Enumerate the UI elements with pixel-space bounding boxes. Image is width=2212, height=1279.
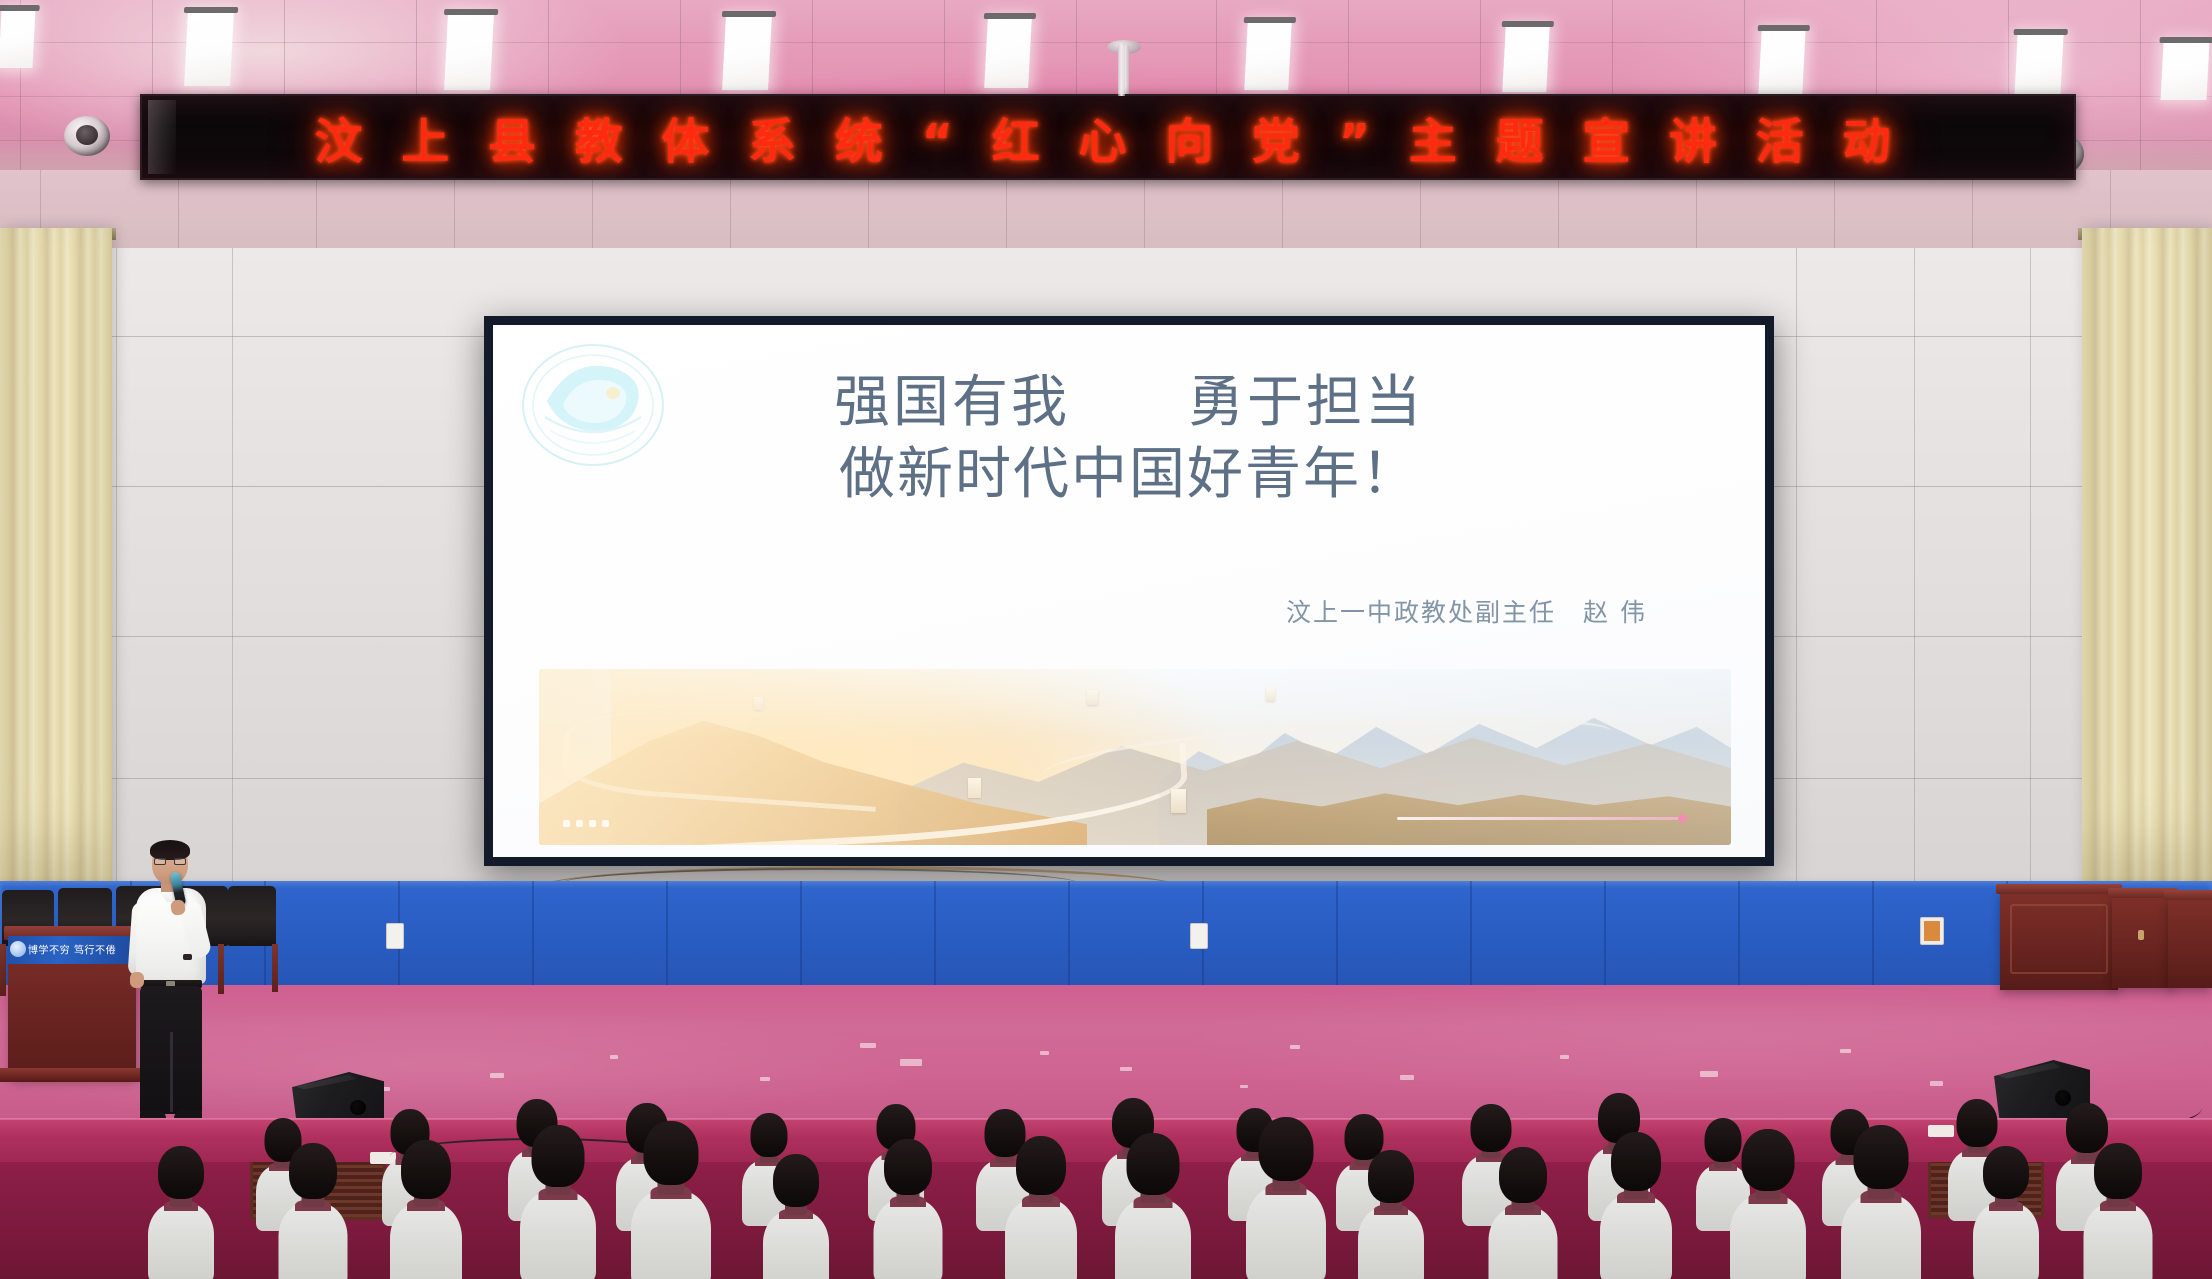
audience-head [1983, 1146, 2029, 1199]
audience-head [1611, 1132, 1661, 1191]
audience-member-front-4 [634, 1126, 708, 1279]
audience-row-front [0, 0, 2212, 1279]
audience-member-front-7 [1007, 1140, 1074, 1279]
audience-member-front-3 [523, 1129, 593, 1279]
audience-member-front-9 [1249, 1122, 1323, 1279]
audience-uniform [1841, 1194, 1921, 1279]
audience-head [401, 1140, 451, 1199]
audience-member-front-6 [876, 1143, 940, 1279]
audience-uniform [390, 1203, 462, 1279]
audience-member-front-15 [1975, 1150, 2036, 1279]
audience-head [1259, 1117, 1314, 1181]
audience-member-front-10 [1360, 1154, 1421, 1279]
audience-uniform [1005, 1199, 1077, 1279]
audience-uniform [148, 1203, 214, 1279]
audience-head [884, 1139, 932, 1195]
banner-drop-cable [1118, 44, 1125, 96]
audience-uniform [763, 1211, 829, 1279]
audience-head [1742, 1129, 1795, 1191]
audience-uniform [631, 1190, 711, 1279]
audience-uniform [1358, 1207, 1424, 1279]
audience-uniform [279, 1203, 348, 1279]
audience-uniform [1973, 1203, 2039, 1279]
audience-head [289, 1143, 337, 1199]
audience-head [1854, 1125, 1909, 1189]
audience-member-front-1 [281, 1147, 345, 1279]
audience-uniform [874, 1199, 943, 1279]
audience-member-front-0 [150, 1150, 211, 1279]
audience-head [1368, 1150, 1414, 1203]
audience-member-front-16 [2086, 1147, 2150, 1279]
audience-head [1127, 1133, 1180, 1195]
audience-head [1499, 1147, 1547, 1203]
audience-head [773, 1154, 819, 1207]
audience-head [1016, 1136, 1066, 1195]
audience-member-front-2 [392, 1144, 459, 1279]
audience-uniform [1246, 1186, 1326, 1279]
auditorium-scene: 汶 上 县 教 体 系 统 “ 红 心 向 党 ” 主 题 宣 讲 活 动 [0, 0, 2212, 1279]
audience-uniform [1115, 1199, 1191, 1279]
audience-uniform [2084, 1203, 2153, 1279]
audience-member-front-14 [1844, 1130, 1918, 1279]
audience-uniform [1730, 1195, 1806, 1279]
audience-head [2094, 1143, 2142, 1199]
audience-head [644, 1121, 699, 1185]
audience-uniform [520, 1191, 596, 1279]
audience-member-front-5 [765, 1158, 826, 1279]
audience-member-front-11 [1491, 1151, 1555, 1279]
audience-uniform [1489, 1207, 1558, 1279]
audience-member-front-13 [1733, 1133, 1803, 1279]
audience-head [158, 1146, 204, 1199]
audience-member-front-8 [1118, 1137, 1188, 1279]
audience-member-front-12 [1602, 1136, 1669, 1279]
audience-head [532, 1125, 585, 1187]
audience-uniform [1600, 1195, 1672, 1279]
